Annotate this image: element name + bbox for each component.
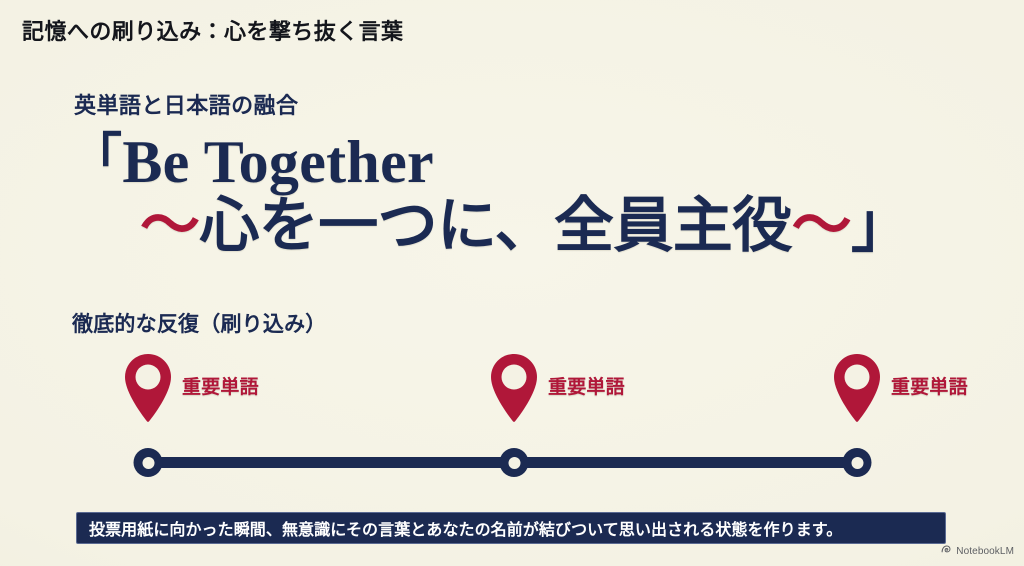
caption-banner: 投票用紙に向かった瞬間、無意識にその言葉とあなたの名前が結びついて思い出される状… — [76, 512, 946, 544]
map-pin-icon — [829, 352, 885, 428]
timeline-node — [134, 448, 163, 477]
timeline-section-label: 徹底的な反復（刷り込み） — [72, 308, 327, 338]
opening-bracket: 「 — [70, 129, 122, 189]
map-pin-icon — [486, 352, 542, 428]
hero-line-2: 〜心を一つに、全員主役〜」 — [70, 194, 970, 257]
notebooklm-logo-icon — [941, 542, 952, 560]
slide-background — [0, 0, 1024, 566]
timeline-stop-label: 重要単語 — [182, 372, 259, 399]
hero-line-1: 「Be Together — [70, 132, 970, 192]
tilde-left: 〜 — [140, 192, 199, 259]
hero-title-ja: 心を一つに、全員主役 — [199, 192, 791, 259]
closing-bracket: 」 — [851, 192, 910, 259]
hero-headline: 「Be Together 〜心を一つに、全員主役〜」 — [70, 132, 970, 257]
timeline-stop-label: 重要単語 — [548, 372, 625, 399]
notebooklm-watermark: NotebookLM — [941, 542, 1014, 560]
timeline-stop-label: 重要単語 — [891, 372, 968, 399]
timeline-node — [500, 448, 529, 477]
notebooklm-label: NotebookLM — [956, 546, 1014, 557]
hero-eyebrow: 英単語と日本語の融合 — [74, 88, 298, 120]
tilde-right: 〜 — [792, 192, 851, 259]
timeline-node — [843, 448, 872, 477]
hero-title-en: Be Together — [122, 129, 434, 195]
repetition-timeline: 重要単語 重要単語 重要単語 — [0, 352, 1024, 478]
caption-text: 投票用紙に向かった瞬間、無意識にその言葉とあなたの名前が結びついて思い出される状… — [89, 516, 842, 540]
page-title: 記憶への刷り込み：心を撃ち抜く言葉 — [22, 14, 403, 46]
map-pin-icon — [120, 352, 176, 428]
